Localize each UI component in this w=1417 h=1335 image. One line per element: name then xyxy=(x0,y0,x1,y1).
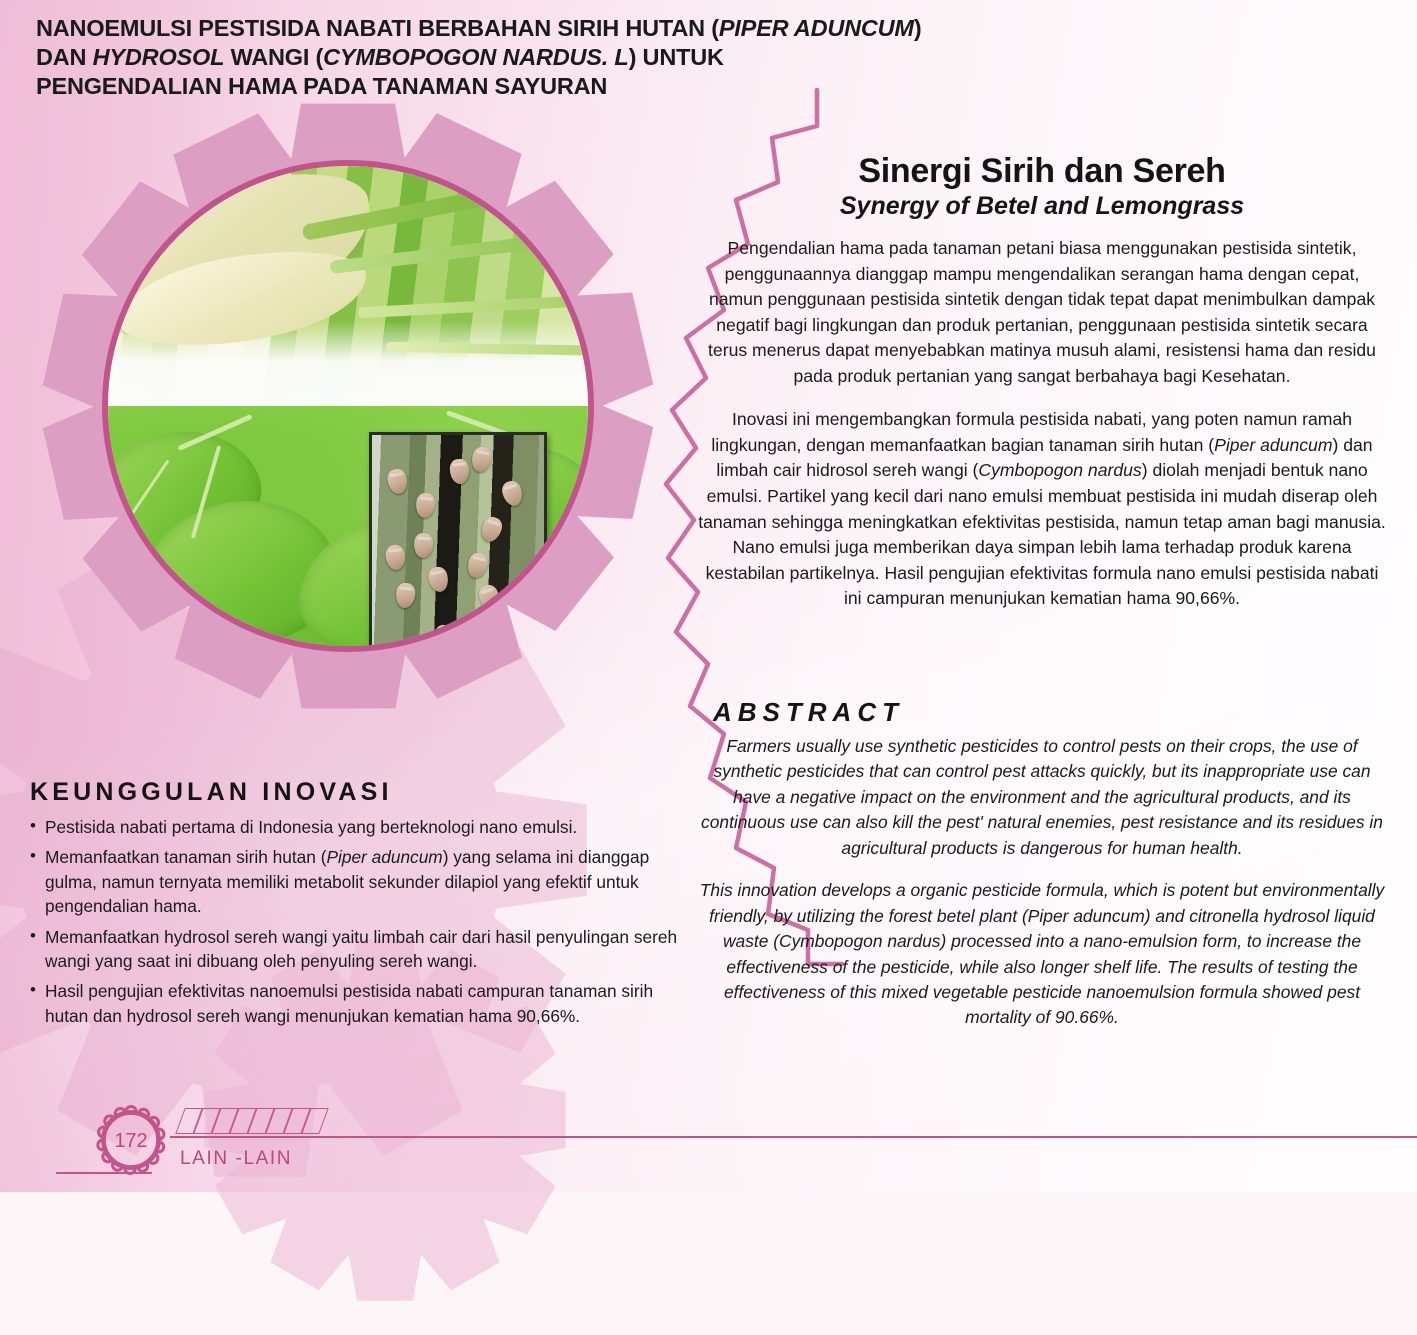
body-paragraph-1: Pengendalian hama pada tanaman petani bi… xyxy=(697,236,1387,390)
title-line-1: NANOEMULSI PESTISIDA NABATI BERBAHAN SIR… xyxy=(36,14,1166,43)
footer-rule-long xyxy=(170,1136,1417,1138)
list-item: Memanfaatkan tanaman sirih hutan (Piper … xyxy=(30,845,690,918)
pest-insect xyxy=(478,515,504,545)
advantages-list: Pestisida nabati pertama di Indonesia ya… xyxy=(30,815,690,1028)
pest-insect xyxy=(465,551,489,580)
title-line-2-text-c: ) UNTUK xyxy=(629,44,724,70)
pest-insect xyxy=(427,565,451,593)
pest-insect xyxy=(449,458,470,484)
pest-insect xyxy=(500,479,525,508)
pest-insect xyxy=(385,544,407,571)
title-line-2-text-b: WANGI ( xyxy=(224,44,323,70)
pest-insect xyxy=(477,583,503,613)
title-line-2-species: CYMBOPOGON NARDUS. L xyxy=(323,44,628,70)
body-p2-species-2: Cymbopogon nardus xyxy=(978,460,1141,480)
advantage-text-a: Memanfaatkan tanaman sirih hutan ( xyxy=(45,847,326,867)
title-line-1-close: ) xyxy=(914,15,922,41)
abstract-paragraph-2: This innovation develops a organic pesti… xyxy=(697,878,1387,1030)
advantage-species: Piper aduncum xyxy=(326,847,442,867)
title-line-1-text: NANOEMULSI PESTISIDA NABATI BERBAHAN SIR… xyxy=(36,15,719,41)
abstract-section: ABSTRACT Farmers usually use synthetic p… xyxy=(697,697,1387,1048)
pest-insect xyxy=(395,582,417,609)
pest-insect xyxy=(414,492,436,519)
page-title: NANOEMULSI PESTISIDA NABATI BERBAHAN SIR… xyxy=(36,14,1166,101)
footer-category-label: LAIN -LAIN xyxy=(180,1148,292,1170)
section-heading-indonesian: Sinergi Sirih dan Sereh xyxy=(697,150,1387,192)
footer-rule-left xyxy=(56,1172,152,1174)
body-p2-text-c: ) diolah menjadi bentuk nano emulsi. Par… xyxy=(698,460,1386,608)
advantage-text-a: Pestisida nabati pertama di Indonesia ya… xyxy=(45,817,577,837)
advantage-text-a: Memanfaatkan hydrosol sereh wangi yaitu … xyxy=(45,927,677,971)
title-line-1-species: PIPER ADUNCUM xyxy=(719,15,914,41)
right-column: Sinergi Sirih dan Sereh Synergy of Betel… xyxy=(697,150,1387,630)
pest-insect xyxy=(470,445,494,473)
list-item: Pestisida nabati pertama di Indonesia ya… xyxy=(30,815,690,839)
title-line-2-text-a: DAN xyxy=(36,44,93,70)
body-p2-species-1: Piper aduncum xyxy=(1214,435,1332,455)
section-heading-english: Synergy of Betel and Lemongrass xyxy=(697,190,1387,222)
abstract-paragraph-1: Farmers usually use synthetic pesticides… xyxy=(697,734,1387,861)
circle-photo-frame xyxy=(102,160,594,652)
pest-insect xyxy=(386,468,409,496)
inset-pest-photo xyxy=(369,432,547,652)
title-line-2-em-hydrosol: HYDROSOL xyxy=(93,44,225,70)
abstract-title: ABSTRACT xyxy=(697,697,1387,728)
advantage-text-a: Hasil pengujian efektivitas nanoemulsi p… xyxy=(45,981,653,1025)
title-line-2: DAN HYDROSOL WANGI (CYMBOPOGON NARDUS. L… xyxy=(36,43,1166,72)
pest-insect xyxy=(413,532,434,558)
list-item: Hasil pengujian efektivitas nanoemulsi p… xyxy=(30,979,690,1028)
list-item: Memanfaatkan hydrosol sereh wangi yaitu … xyxy=(30,925,690,974)
footer-page-number: 172 xyxy=(100,1110,162,1172)
advantages-section: KEUNGGULAN INOVASI Pestisida nabati pert… xyxy=(30,778,690,1034)
advantages-title: KEUNGGULAN INOVASI xyxy=(30,778,690,807)
title-line-3: PENGENDALIAN HAMA PADA TANAMAN SAYURAN xyxy=(36,72,1166,101)
body-paragraph-2: Inovasi ini mengembangkan formula pestis… xyxy=(697,407,1387,612)
